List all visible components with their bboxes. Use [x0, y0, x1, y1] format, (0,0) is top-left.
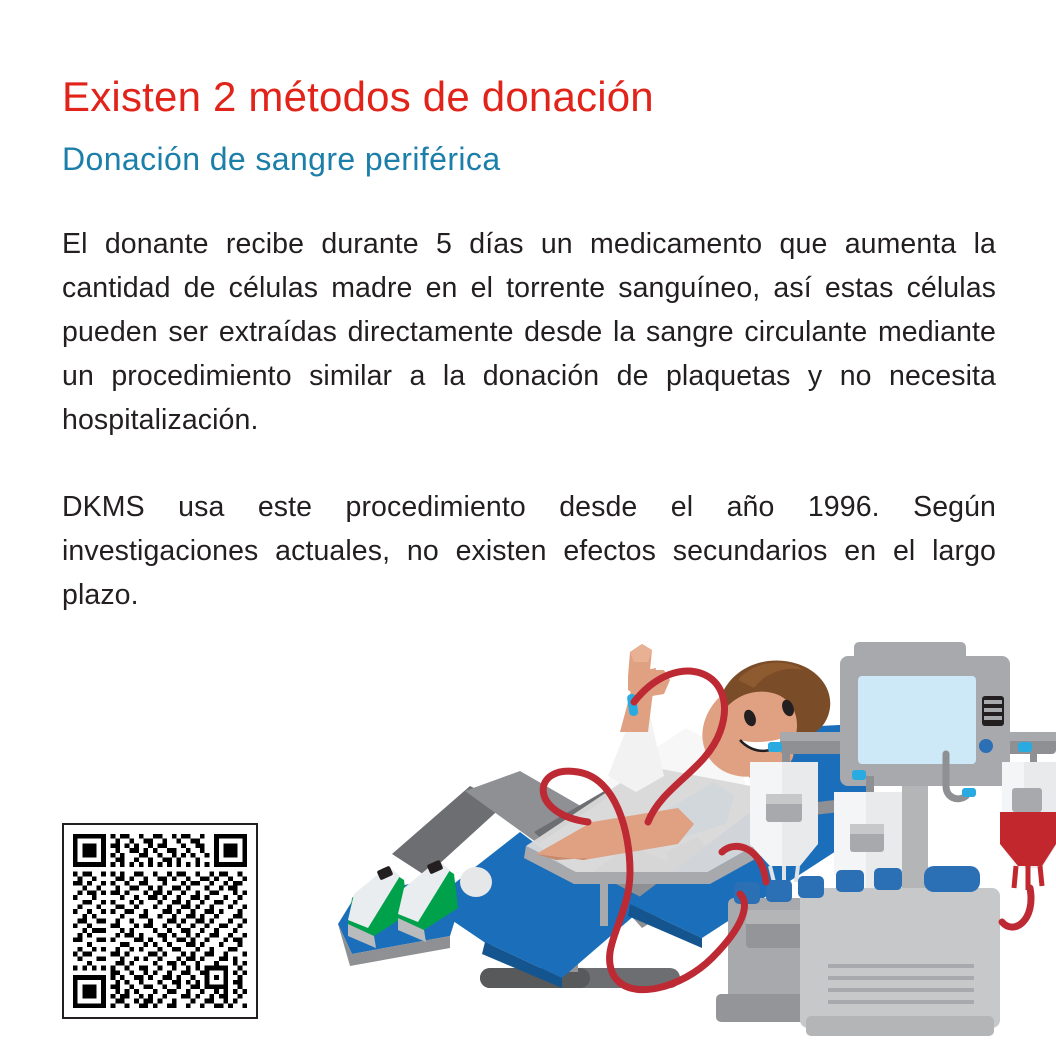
qr-code-modules	[73, 834, 247, 1008]
page-subtitle: Donación de sangre periférica	[62, 139, 501, 179]
apheresis-machine-icon	[716, 866, 1000, 1036]
page-title: Existen 2 métodos de donación	[62, 72, 654, 122]
body-paragraph-1: El donante recibe durante 5 días un medi…	[62, 222, 996, 442]
qr-code[interactable]	[62, 823, 258, 1019]
body-text-block: El donante recibe durante 5 días un medi…	[62, 222, 996, 617]
body-paragraph-2: DKMS usa este procedimiento desde el año…	[62, 485, 996, 617]
poster-page: Existen 2 métodos de donación Donación d…	[0, 0, 1056, 1056]
blood-donation-illustration	[330, 636, 1056, 1036]
blood-bag-icon	[1000, 742, 1056, 890]
monitor-screen	[858, 676, 976, 764]
